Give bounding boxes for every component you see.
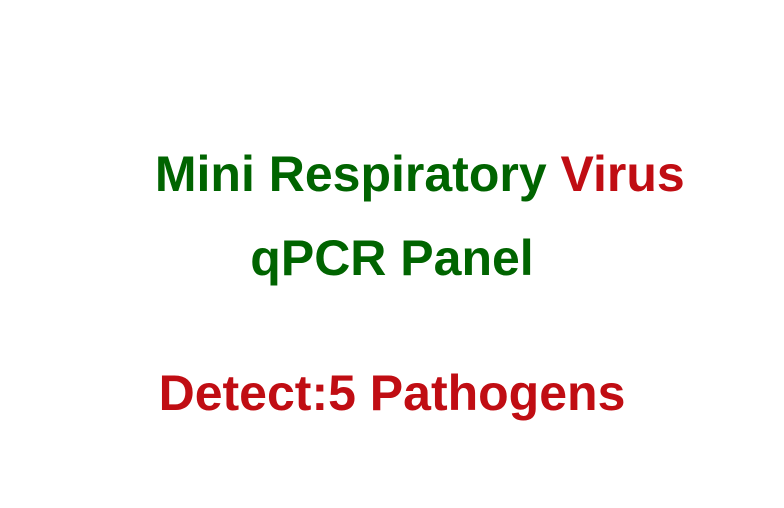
product-name-highlight-text: Virus	[561, 146, 685, 202]
product-name-heading: Mini Respiratory Virus	[0, 99, 784, 249]
product-title-card: Mini Respiratory Virus qPCR Panel Detect…	[0, 0, 784, 508]
detection-claim-heading: Detect:5 Pathogens	[0, 368, 784, 418]
product-name-primary-text: Mini Respiratory	[155, 146, 561, 202]
assay-type-heading: qPCR Panel	[0, 233, 784, 283]
